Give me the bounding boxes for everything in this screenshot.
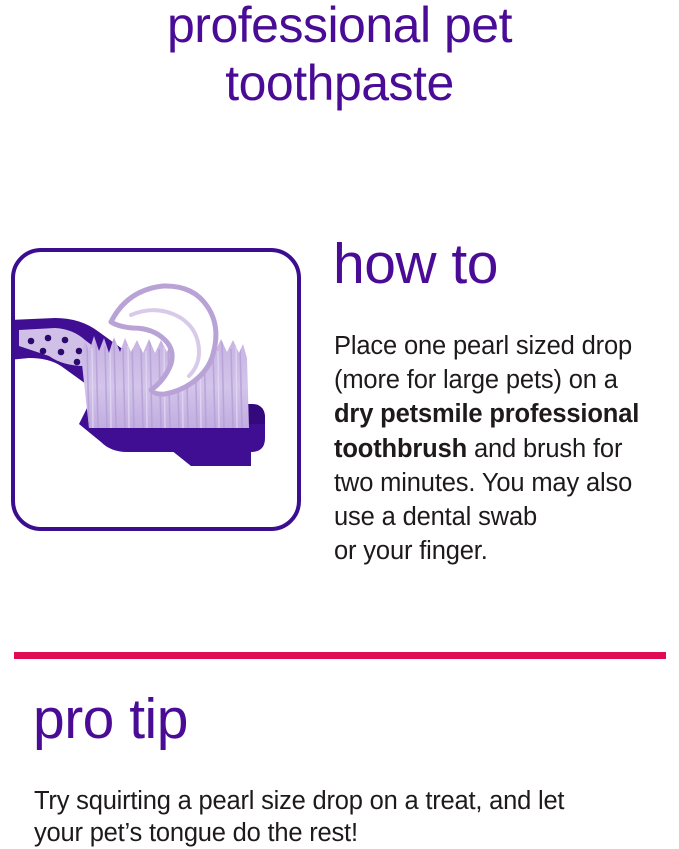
page-title: professional pet toothpaste bbox=[0, 0, 679, 112]
howto-line-4-rest: and brush for bbox=[467, 435, 622, 463]
protip-line-2: your pet’s tongue do the rest! bbox=[34, 817, 664, 849]
page-title-line-1: professional pet bbox=[0, 0, 679, 54]
howto-line-4-bold: toothbrush bbox=[334, 435, 467, 463]
protip-body-text: Try squirting a pearl size drop on a tre… bbox=[34, 785, 664, 849]
howto-body-text: Place one pearl sized drop (more for lar… bbox=[334, 329, 674, 568]
howto-line-5: two minutes. You may also bbox=[334, 466, 674, 500]
section-divider-rule bbox=[14, 652, 666, 659]
protip-line-1: Try squirting a pearl size drop on a tre… bbox=[34, 785, 664, 817]
toothbrush-with-paste-icon bbox=[15, 252, 297, 527]
howto-heading: how to bbox=[333, 233, 498, 295]
howto-line-3: dry petsmile professional bbox=[334, 397, 674, 431]
howto-line-2: (more for large pets) on a bbox=[334, 363, 674, 397]
page-title-line-2: toothpaste bbox=[0, 54, 679, 112]
protip-heading: pro tip bbox=[33, 688, 188, 750]
howto-line-7: or your finger. bbox=[334, 534, 674, 568]
howto-line-6: use a dental swab bbox=[334, 500, 674, 534]
toothbrush-illustration-box bbox=[11, 248, 301, 531]
howto-line-4: toothbrush and brush for bbox=[334, 432, 674, 466]
howto-line-3-bold: dry petsmile professional bbox=[334, 400, 639, 428]
howto-line-1: Place one pearl sized drop bbox=[334, 329, 674, 363]
